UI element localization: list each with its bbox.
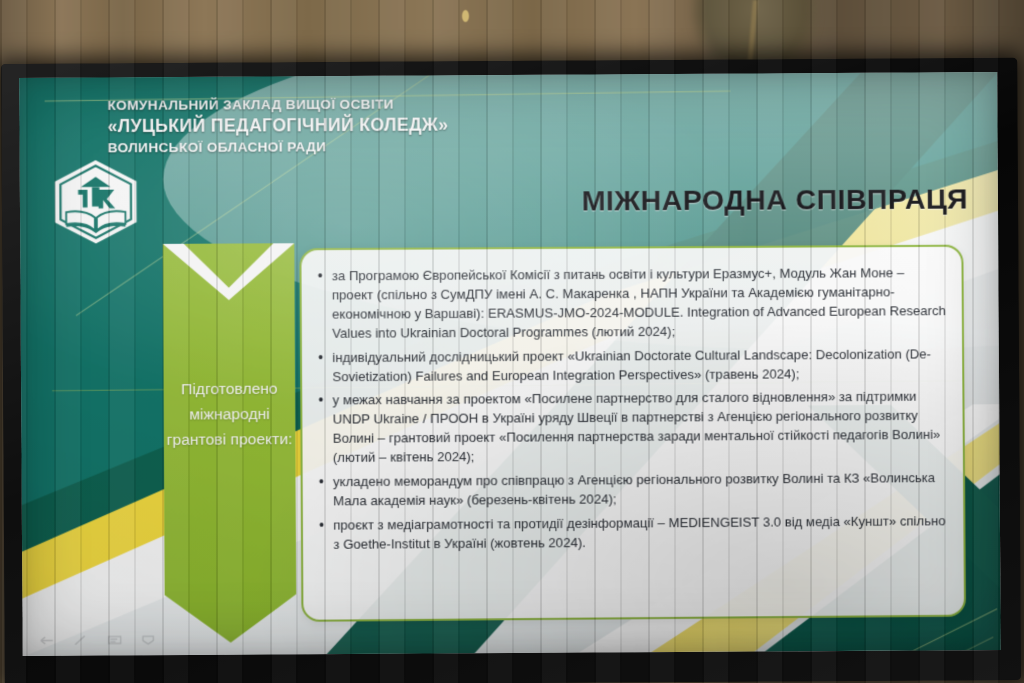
white-diagonal-band [19,72,1001,656]
corner-white-band [483,404,1001,656]
screen-glare [19,72,1001,656]
bullet-list: за Програмою Європейської Комісії з пита… [316,263,948,554]
bullet-item: проєкт з медіаграмотності та протидії де… [317,511,947,554]
institution-line-3: ВОЛИНСЬКОЇ ОБЛАСНОЇ РАДИ [108,136,753,156]
teal-diagonal-band [19,72,1001,656]
bullet-item: у межах навчання за проектом «Посилене п… [316,387,947,468]
institution-header: КОМУНАЛЬНИЙ ЗАКЛАД ВИЩОЇ ОСВІТИ «ЛУЦЬКИЙ… [107,94,753,156]
title-highlight-sweep [19,72,1001,656]
green-diagonal-band [19,72,1001,656]
thin-green-diagonal [19,72,1001,656]
slide-background [19,72,1001,656]
corner-dark-band [483,404,1001,656]
bullet-item: індивідуальний дослідницький проект «Ukr… [316,344,946,386]
logo-book-left [66,211,95,230]
pen-tool-icon[interactable] [73,634,90,647]
corner-yellow-band [483,404,1001,656]
institution-line-1: КОМУНАЛЬНИЙ ЗАКЛАД ВИЩОЇ ОСВІТИ [107,94,752,114]
logo-book-base [66,223,125,233]
logo-hexagon-inner [60,166,131,238]
corner-teal-band [483,404,1001,656]
logo-roof [81,177,111,187]
logo-hexagon-outer [55,160,137,244]
hairline-rule-diagonal [76,72,510,316]
logo-letter-k [98,190,115,209]
hanging-cable [739,0,758,160]
television: КОМУНАЛЬНИЙ ЗАКЛАД ВИЩОЇ ОСВІТИ «ЛУЦЬКИЙ… [1,58,1021,683]
institution-line-2: «ЛУЦЬКИЙ ПЕДАГОГІЧНИЙ КОЛЕДЖ» [107,112,752,137]
yellow-diagonal-band [19,72,1001,656]
corner-hairline-1 [700,608,997,656]
wall-plant [690,0,820,85]
slide-title: МІЖНАРОДНА СПІВПРАЦЯ [582,183,969,218]
tv-bezel [1,58,1021,683]
previous-slide-icon[interactable] [39,634,56,647]
logo-book-right [97,211,126,230]
hairline-rule-top [45,91,731,102]
corner-hairline-2 [786,637,993,656]
college-logo [49,158,143,245]
hairline-rule-mid [52,380,964,391]
ribbon-label: Підготовлено міжнародні грантові проекти… [164,376,296,453]
corner-decoration [483,404,1001,656]
slide-menu-icon[interactable] [106,633,123,646]
tv-screen: КОМУНАЛЬНИЙ ЗАКЛАД ВИЩОЇ ОСВІТИ «ЛУЦЬКИЙ… [19,72,1001,656]
presentation-slide: КОМУНАЛЬНИЙ ЗАКЛАД ВИЩОЇ ОСВІТИ «ЛУЦЬКИЙ… [19,72,1001,656]
green-ribbon-banner [163,243,297,643]
logo-letter-l [78,190,87,208]
wall-speck [462,10,469,22]
logo-pillar [92,187,100,206]
presenter-controls[interactable] [39,633,157,647]
content-card: за Програмою Європейської Комісії з пита… [299,245,966,622]
ribbon-top-notch [163,243,295,300]
bullet-item: за Програмою Європейської Комісії з пита… [316,263,946,343]
room-wall: КОМУНАЛЬНИЙ ЗАКЛАД ВИЩОЇ ОСВІТИ «ЛУЦЬКИЙ… [0,0,1024,683]
screen-vignette [19,72,1001,656]
pointer-options-icon[interactable] [140,633,157,646]
bullet-item: укладено меморандум про співпрацю з Аген… [317,468,947,511]
